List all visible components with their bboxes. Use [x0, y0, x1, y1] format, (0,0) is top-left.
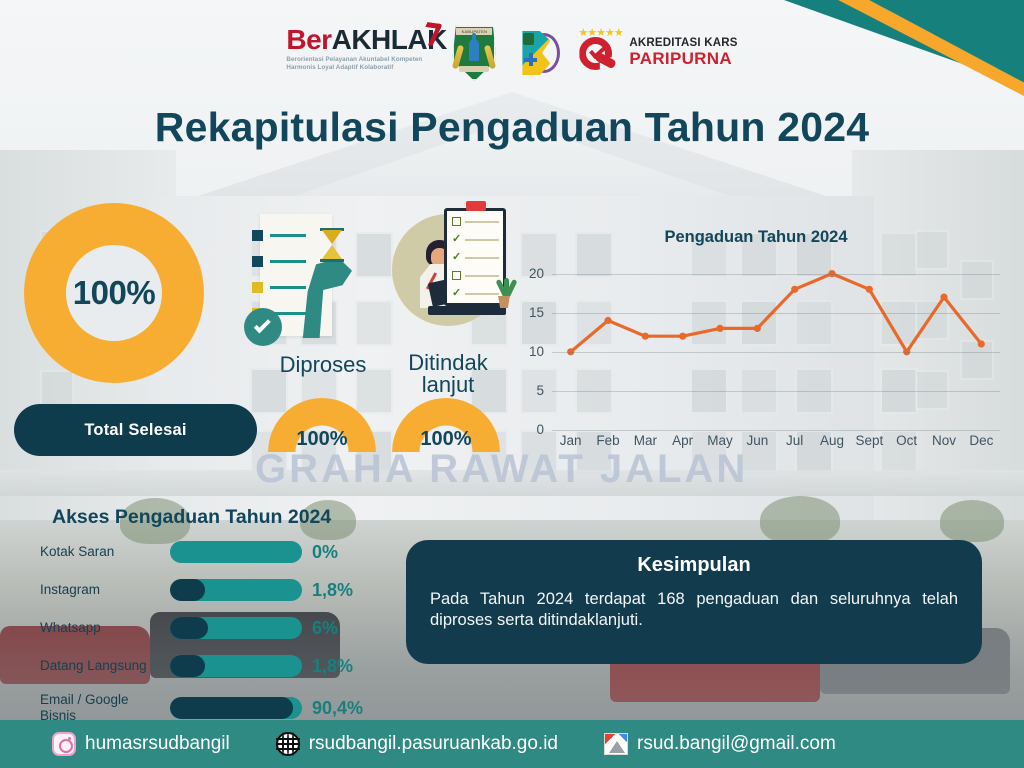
illustration-list-row	[252, 256, 306, 267]
clipboard-line	[465, 275, 499, 277]
check-circle-icon	[244, 308, 282, 346]
kesimpulan-title: Kesimpulan	[430, 554, 958, 577]
akses-bar-label: Instagram	[40, 582, 170, 598]
akses-chart-title: Akses Pengaduan Tahun 2024	[52, 506, 331, 529]
chart-x-tick-label: Jan	[560, 433, 582, 448]
kars-text: AKREDITASI KARS PARIPURNA	[629, 38, 737, 67]
chart-x-tick-label: Oct	[896, 433, 917, 448]
chart-gridline	[552, 391, 1000, 392]
chart-x-tick-label: May	[707, 433, 733, 448]
crest-base	[459, 66, 489, 72]
page-title: Rekapitulasi Pengaduan Tahun 2024	[0, 104, 1024, 151]
akses-bar-label: Kotak Saran	[40, 544, 170, 560]
donut-value-label: 100%	[73, 274, 155, 312]
rsud-logo-cross-vertical	[529, 53, 533, 66]
line-chart-data-point	[866, 286, 873, 293]
chart-gridline	[552, 430, 1000, 431]
line-chart-data-point	[604, 317, 611, 324]
globe-icon	[276, 732, 300, 756]
chart-x-tick-label: Mar	[634, 433, 657, 448]
clipboard-check-icon: ✓	[452, 235, 461, 244]
akses-bar-value: 1,8%	[312, 656, 353, 677]
infographic-canvas: GRAHA RAWAT JALAN BerAKHLAK Berorientasi…	[0, 0, 1024, 768]
line-chart-plot-area: 05101520	[552, 258, 1000, 430]
clipboard-row	[452, 217, 499, 226]
chart-x-tick-label: Jun	[746, 433, 768, 448]
kesimpulan-card: Kesimpulan Pada Tahun 2024 terdapat 168 …	[406, 540, 982, 664]
footer-website[interactable]: rsudbangil.pasuruankab.go.id	[276, 732, 558, 756]
total-selesai-donut-chart: 100%	[24, 203, 204, 383]
akses-bar-row: Instagram1,8%	[40, 574, 390, 606]
clipboard-clip	[466, 201, 486, 211]
berakhlak-wordmark: BerAKHLAK	[286, 26, 436, 54]
akses-bar-row: Whatsapp6%	[40, 612, 390, 644]
hourglass-bottom	[322, 245, 342, 259]
background-foliage	[760, 496, 840, 544]
chart-y-tick-label: 0	[508, 422, 544, 437]
clipboard-row	[452, 271, 499, 280]
footer-email-address: rsud.bangil@gmail.com	[637, 733, 836, 755]
akses-bar-value: 0%	[312, 542, 338, 563]
gmail-icon	[604, 733, 628, 755]
footer-instagram[interactable]: humasrsudbangil	[52, 732, 230, 756]
akses-bar-value: 1,8%	[312, 580, 353, 601]
clipboard-line	[465, 221, 499, 223]
gauge-arc	[268, 398, 376, 506]
ditindaklanjut-gauge-chart: 100%	[392, 398, 500, 456]
gauge-value-label: 100%	[268, 428, 376, 451]
donut-hole: 100%	[66, 245, 162, 341]
chart-x-tick-label: Jul	[786, 433, 803, 448]
illustration-list-line	[270, 260, 306, 263]
chart-gridline	[552, 274, 1000, 275]
illustration-list-bullet	[252, 256, 263, 267]
line-chart-data-point	[716, 325, 723, 332]
crest-tower	[469, 39, 479, 61]
clipboard-person-illustration: ✓ ✓ ✓	[390, 206, 516, 338]
hourglass-cap-bottom	[320, 259, 344, 262]
chart-x-tick-label: Nov	[932, 433, 956, 448]
gauge-value-label: 100%	[392, 428, 500, 451]
illustration-list-row	[252, 230, 306, 241]
clipboard-check-icon: ✓	[452, 289, 461, 298]
background-foliage	[940, 500, 1004, 542]
footer-contact-bar: humasrsudbangil rsudbangil.pasuruankab.g…	[0, 720, 1024, 768]
akses-bar-value: 90,4%	[312, 698, 363, 719]
clipboard-line	[465, 257, 499, 259]
footer-instagram-handle: humasrsudbangil	[85, 733, 230, 755]
akses-bar-track	[170, 617, 302, 639]
chart-y-tick-label: 10	[508, 344, 544, 359]
line-chart-data-point	[940, 294, 947, 301]
clipboard-row: ✓	[452, 235, 499, 244]
line-chart-data-point	[754, 325, 761, 332]
kesimpulan-body: Pada Tahun 2024 terdapat 168 pengaduan d…	[430, 589, 958, 631]
clipboard-check-icon: ✓	[452, 253, 461, 262]
akses-bar-label: Whatsapp	[40, 620, 170, 636]
clipboard-row: ✓	[452, 253, 499, 262]
instagram-icon	[52, 732, 76, 756]
footer-email[interactable]: rsud.bangil@gmail.com	[604, 733, 836, 755]
akses-bar-chart: Kotak Saran0%Instagram1,8%Whatsapp6%Data…	[40, 536, 390, 734]
chart-gridline	[552, 313, 1000, 314]
clipboard-empty-box	[452, 217, 461, 226]
total-selesai-pill: Total Selesai	[14, 404, 257, 456]
gauge-arc	[392, 398, 500, 506]
line-chart-svg	[552, 258, 1000, 430]
chart-x-tick-label: Dec	[969, 433, 993, 448]
illustration-list-row	[252, 282, 306, 293]
diproses-gauge-chart: 100%	[268, 398, 376, 456]
akses-bar-fill	[170, 579, 205, 601]
line-chart-data-point	[642, 333, 649, 340]
berakhlak-logo: BerAKHLAK Berorientasi Pelayanan Akuntab…	[286, 26, 436, 80]
line-chart-title: Pengaduan Tahun 2024	[500, 228, 1012, 247]
akses-bar-label: Datang Langsung	[40, 658, 170, 674]
berakhlak-tagline-line2: Harmonis Loyal Adaptif Kolaboratif	[286, 64, 436, 72]
akses-bar-value: 6%	[312, 618, 338, 639]
akses-bar-row: Datang Langsung1,8%	[40, 650, 390, 682]
akses-bar-row: Kotak Saran0%	[40, 536, 390, 568]
akses-bar-track	[170, 655, 302, 677]
gauge-label-diproses: Diproses	[268, 352, 378, 378]
akses-bar-track	[170, 697, 302, 719]
akses-bar-fill	[170, 655, 205, 677]
line-chart-x-axis: JanFebMarAprMayJunJulAugSeptOctNovDec	[552, 433, 1000, 453]
kars-q-icon: ★★★★★	[576, 30, 622, 76]
akses-bar-track	[170, 579, 302, 601]
line-chart-data-point	[791, 286, 798, 293]
berakhlak-ber: Ber	[286, 24, 331, 55]
kars-accreditation-logo: ★★★★★ AKREDITASI KARS PARIPURNA	[576, 30, 737, 76]
akses-bar-track	[170, 541, 302, 563]
hourglass-top	[322, 230, 342, 244]
gauge-label-ditindaklanjut: Ditindak lanjut	[400, 352, 496, 396]
footer-website-url: rsudbangil.pasuruankab.go.id	[309, 733, 558, 755]
hourglass-icon	[319, 226, 345, 264]
berakhlak-tagline: Berorientasi Pelayanan Akuntabel Kompete…	[286, 56, 436, 73]
chart-x-tick-label: Aug	[820, 433, 844, 448]
akses-bar-fill	[170, 617, 208, 639]
clipboard-row: ✓	[452, 289, 499, 298]
header-logo-bar: BerAKHLAK Berorientasi Pelayanan Akuntab…	[0, 22, 1024, 84]
illustration-list-line	[270, 286, 306, 289]
chart-x-tick-label: Sept	[855, 433, 883, 448]
chart-gridline	[552, 352, 1000, 353]
kars-line2: PARIPURNA	[629, 50, 737, 67]
rsud-logo-badge	[523, 33, 534, 45]
chart-x-tick-label: Apr	[672, 433, 693, 448]
illustration-list-bullet	[252, 230, 263, 241]
line-chart-data-point	[679, 333, 686, 340]
berakhlak-tagline-line1: Berorientasi Pelayanan Akuntabel Kompete…	[286, 56, 436, 64]
chart-x-tick-label: Feb	[596, 433, 619, 448]
donut-ring: 100%	[24, 203, 204, 383]
illustration-list-line	[270, 234, 306, 237]
chart-y-tick-label: 5	[508, 383, 544, 398]
pasuruan-regency-crest-icon: KABUPATEN PASURUAN	[452, 25, 496, 81]
line-chart-data-point	[978, 340, 985, 347]
rsud-bangil-logo-icon	[512, 27, 560, 79]
illustration-list-bullet	[252, 282, 263, 293]
clipboard-empty-box	[452, 271, 461, 280]
chart-y-tick-label: 20	[508, 266, 544, 281]
clipboard-line	[465, 239, 499, 241]
akses-bar-fill	[170, 697, 293, 719]
checklist-hourglass-illustration	[244, 212, 374, 347]
pengaduan-line-chart: Pengaduan Tahun 2024 05101520 JanFebMarA…	[500, 228, 1012, 460]
chart-y-tick-label: 15	[508, 305, 544, 320]
